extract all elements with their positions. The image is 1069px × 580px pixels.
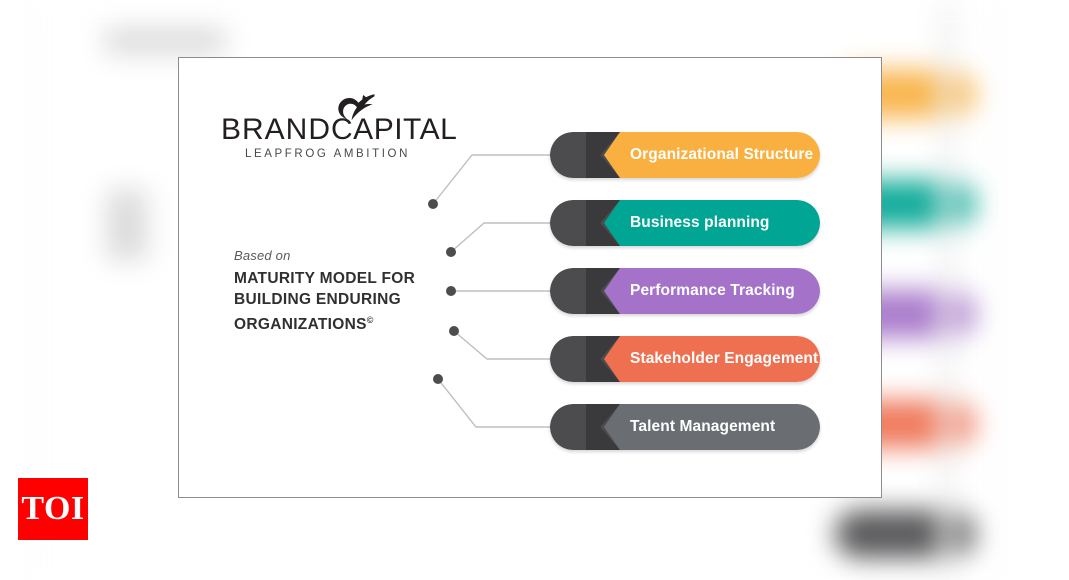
backdrop-logo-smudge: [105, 28, 225, 54]
backdrop-right-edge: [940, 0, 954, 580]
toi-watermark-text: TOI: [18, 478, 88, 540]
pillar-label-1: Organizational Structure: [630, 132, 813, 178]
pillar-label-2: Business planning: [630, 200, 770, 246]
screenshot-root: BRANDCAPITAL LEAPFROG AMBITION Based on …: [0, 0, 1069, 580]
connector-dot-5: [433, 374, 443, 384]
connector-dot-2: [446, 247, 456, 257]
connector-dot-3: [446, 286, 456, 296]
pillar-organizational-structure[interactable]: Organizational Structure: [550, 132, 820, 178]
connector-dot-4: [449, 326, 459, 336]
connector-line-1: [433, 155, 559, 204]
connector-line-5: [438, 379, 559, 427]
pillar-performance-tracking[interactable]: Performance Tracking: [550, 268, 820, 314]
pillar-business-planning[interactable]: Business planning: [550, 200, 820, 246]
infographic-card: BRANDCAPITAL LEAPFROG AMBITION Based on …: [178, 57, 882, 498]
toi-watermark: TOI: [18, 478, 88, 540]
pillar-talent-management[interactable]: Talent Management: [550, 404, 820, 450]
connector-line-4: [454, 331, 559, 359]
backdrop-text-smudge: [107, 190, 147, 260]
pillar-stakeholder-engagement[interactable]: Stakeholder Engagement: [550, 336, 820, 382]
connector-dot-1: [428, 199, 438, 209]
pillar-label-5: Talent Management: [630, 404, 775, 450]
connector-line-2: [451, 223, 559, 252]
pillar-label-3: Performance Tracking: [630, 268, 795, 314]
backdrop-pill-5: [835, 510, 975, 558]
pillar-label-4: Stakeholder Engagement: [630, 336, 818, 382]
